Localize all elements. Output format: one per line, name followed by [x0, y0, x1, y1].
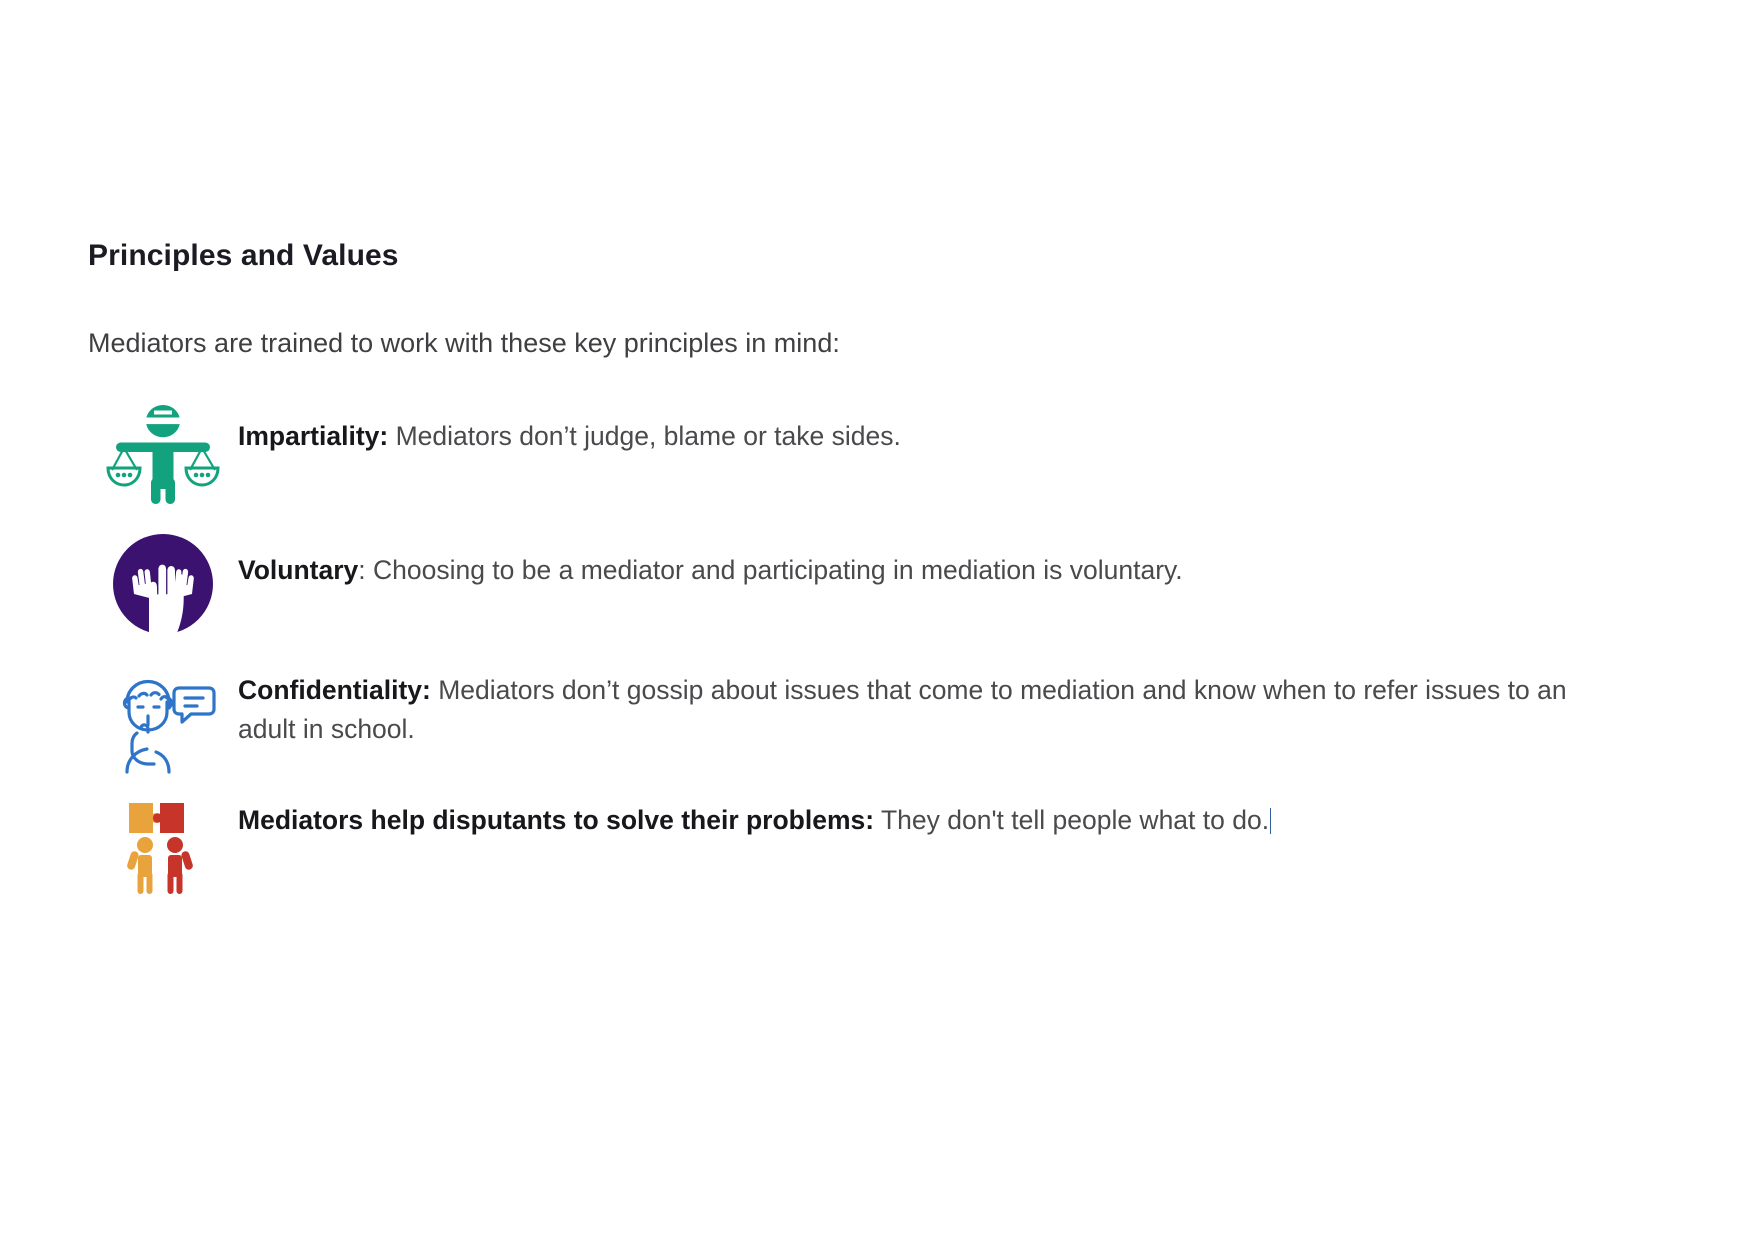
list-item: Impartiality: Mediators don’t judge, bla… [88, 395, 1608, 505]
principle-term: Confidentiality: [238, 675, 431, 705]
page-title: Principles and Values [88, 238, 1608, 274]
principle-term: Voluntary [238, 555, 358, 585]
principle-text: Mediators help disputants to solve their… [238, 787, 1608, 840]
shush-speech-bubble-icon [88, 665, 238, 775]
principle-body: : Choosing to be a mediator and particip… [358, 555, 1182, 585]
text-cursor [1270, 808, 1271, 834]
puzzle-people-icon [88, 787, 238, 897]
list-item: Voluntary: Choosing to be a mediator and… [88, 529, 1608, 639]
principles-list: Impartiality: Mediators don’t judge, bla… [88, 395, 1608, 897]
slide-content: Principles and Values Mediators are trai… [88, 238, 1608, 897]
raised-hands-circle-icon [88, 529, 238, 639]
list-item: Confidentiality: Mediators don’t gossip … [88, 665, 1608, 775]
principle-term: Mediators help disputants to solve their… [238, 805, 874, 835]
principle-body: Mediators don’t judge, blame or take sid… [388, 421, 901, 451]
principle-body: Mediators don’t gossip about issues that… [238, 675, 1567, 744]
slide-canvas: Principles and Values Mediators are trai… [0, 0, 1754, 1240]
principle-body: They don't tell people what to do. [874, 805, 1269, 835]
principle-term: Impartiality: [238, 421, 388, 451]
principle-text: Impartiality: Mediators don’t judge, bla… [238, 395, 1608, 456]
principle-text: Voluntary: Choosing to be a mediator and… [238, 529, 1608, 590]
justice-scales-figure-icon [88, 395, 238, 505]
principle-text: Confidentiality: Mediators don’t gossip … [238, 665, 1608, 749]
list-item: Mediators help disputants to solve their… [88, 787, 1608, 897]
intro-paragraph: Mediators are trained to work with these… [88, 326, 1608, 361]
